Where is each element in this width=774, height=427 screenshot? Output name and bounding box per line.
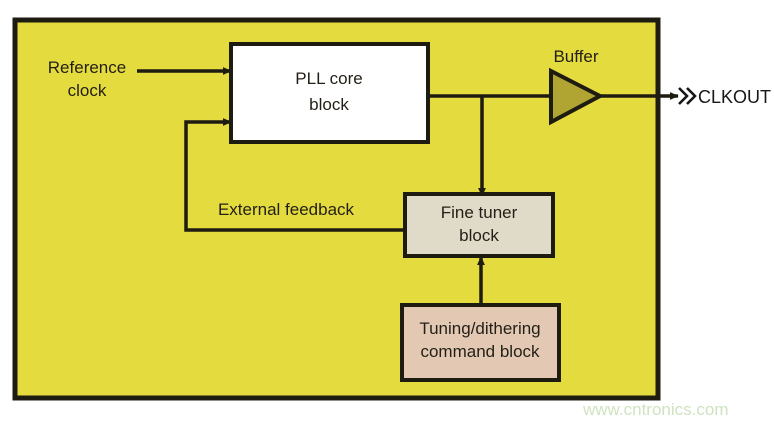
block-pll-core[interactable] xyxy=(231,44,428,142)
clkout-port-icon xyxy=(679,88,695,104)
diagram-canvas: www.cntronics.com PLL core block Fine tu… xyxy=(0,0,774,427)
pll-block-diagram: www.cntronics.com PLL core block Fine tu… xyxy=(0,0,774,427)
block-fine-tuner-label-line1: Fine tuner xyxy=(441,203,518,222)
block-fine-tuner-label-line2: block xyxy=(459,226,499,245)
clkout-label: CLKOUT xyxy=(698,87,771,107)
block-pll-core-label-line2: block xyxy=(309,95,349,114)
block-pll-core-label-line1: PLL core xyxy=(295,69,362,88)
watermark: www.cntronics.com xyxy=(582,400,728,419)
reference-clock-label-line2: clock xyxy=(68,81,107,100)
external-feedback-label: External feedback xyxy=(218,200,355,219)
buffer-label: Buffer xyxy=(553,47,598,66)
block-tuning-dithering-label-line2: command block xyxy=(420,342,540,361)
block-tuning-dithering-label-line1: Tuning/dithering xyxy=(419,319,540,338)
reference-clock-label-line1: Reference xyxy=(48,58,126,77)
